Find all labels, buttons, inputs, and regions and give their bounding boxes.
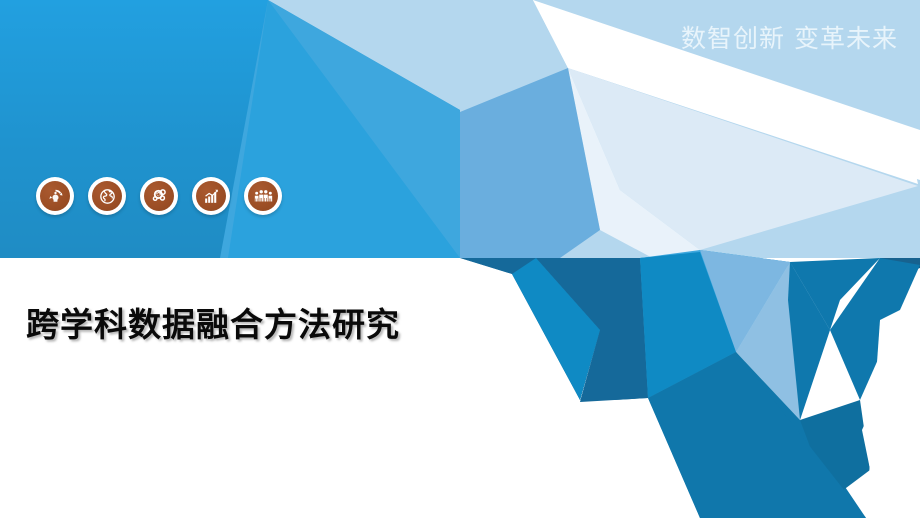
globe-icon	[92, 181, 122, 211]
recycle-arrow-icon	[40, 181, 70, 211]
poly-white-cut-left-b	[0, 258, 460, 518]
page-title: 跨学科数据融合方法研究	[26, 298, 400, 346]
slide-tagline: 数智创新 变革未来	[681, 26, 898, 51]
bar-chart-icon	[196, 181, 226, 211]
icon-badge-globe[interactable]	[88, 177, 126, 215]
gears-icon	[144, 181, 174, 211]
icon-badge-gears[interactable]	[140, 177, 178, 215]
icon-badge-recycle[interactable]	[36, 177, 74, 215]
presentation-slide: 数智创新 变革未来	[0, 0, 920, 518]
icon-badge-people-group[interactable]	[244, 177, 282, 215]
icon-row	[36, 177, 282, 215]
low-poly-artwork	[0, 0, 920, 518]
icon-badge-bar-chart[interactable]	[192, 177, 230, 215]
people-group-icon	[248, 181, 278, 211]
